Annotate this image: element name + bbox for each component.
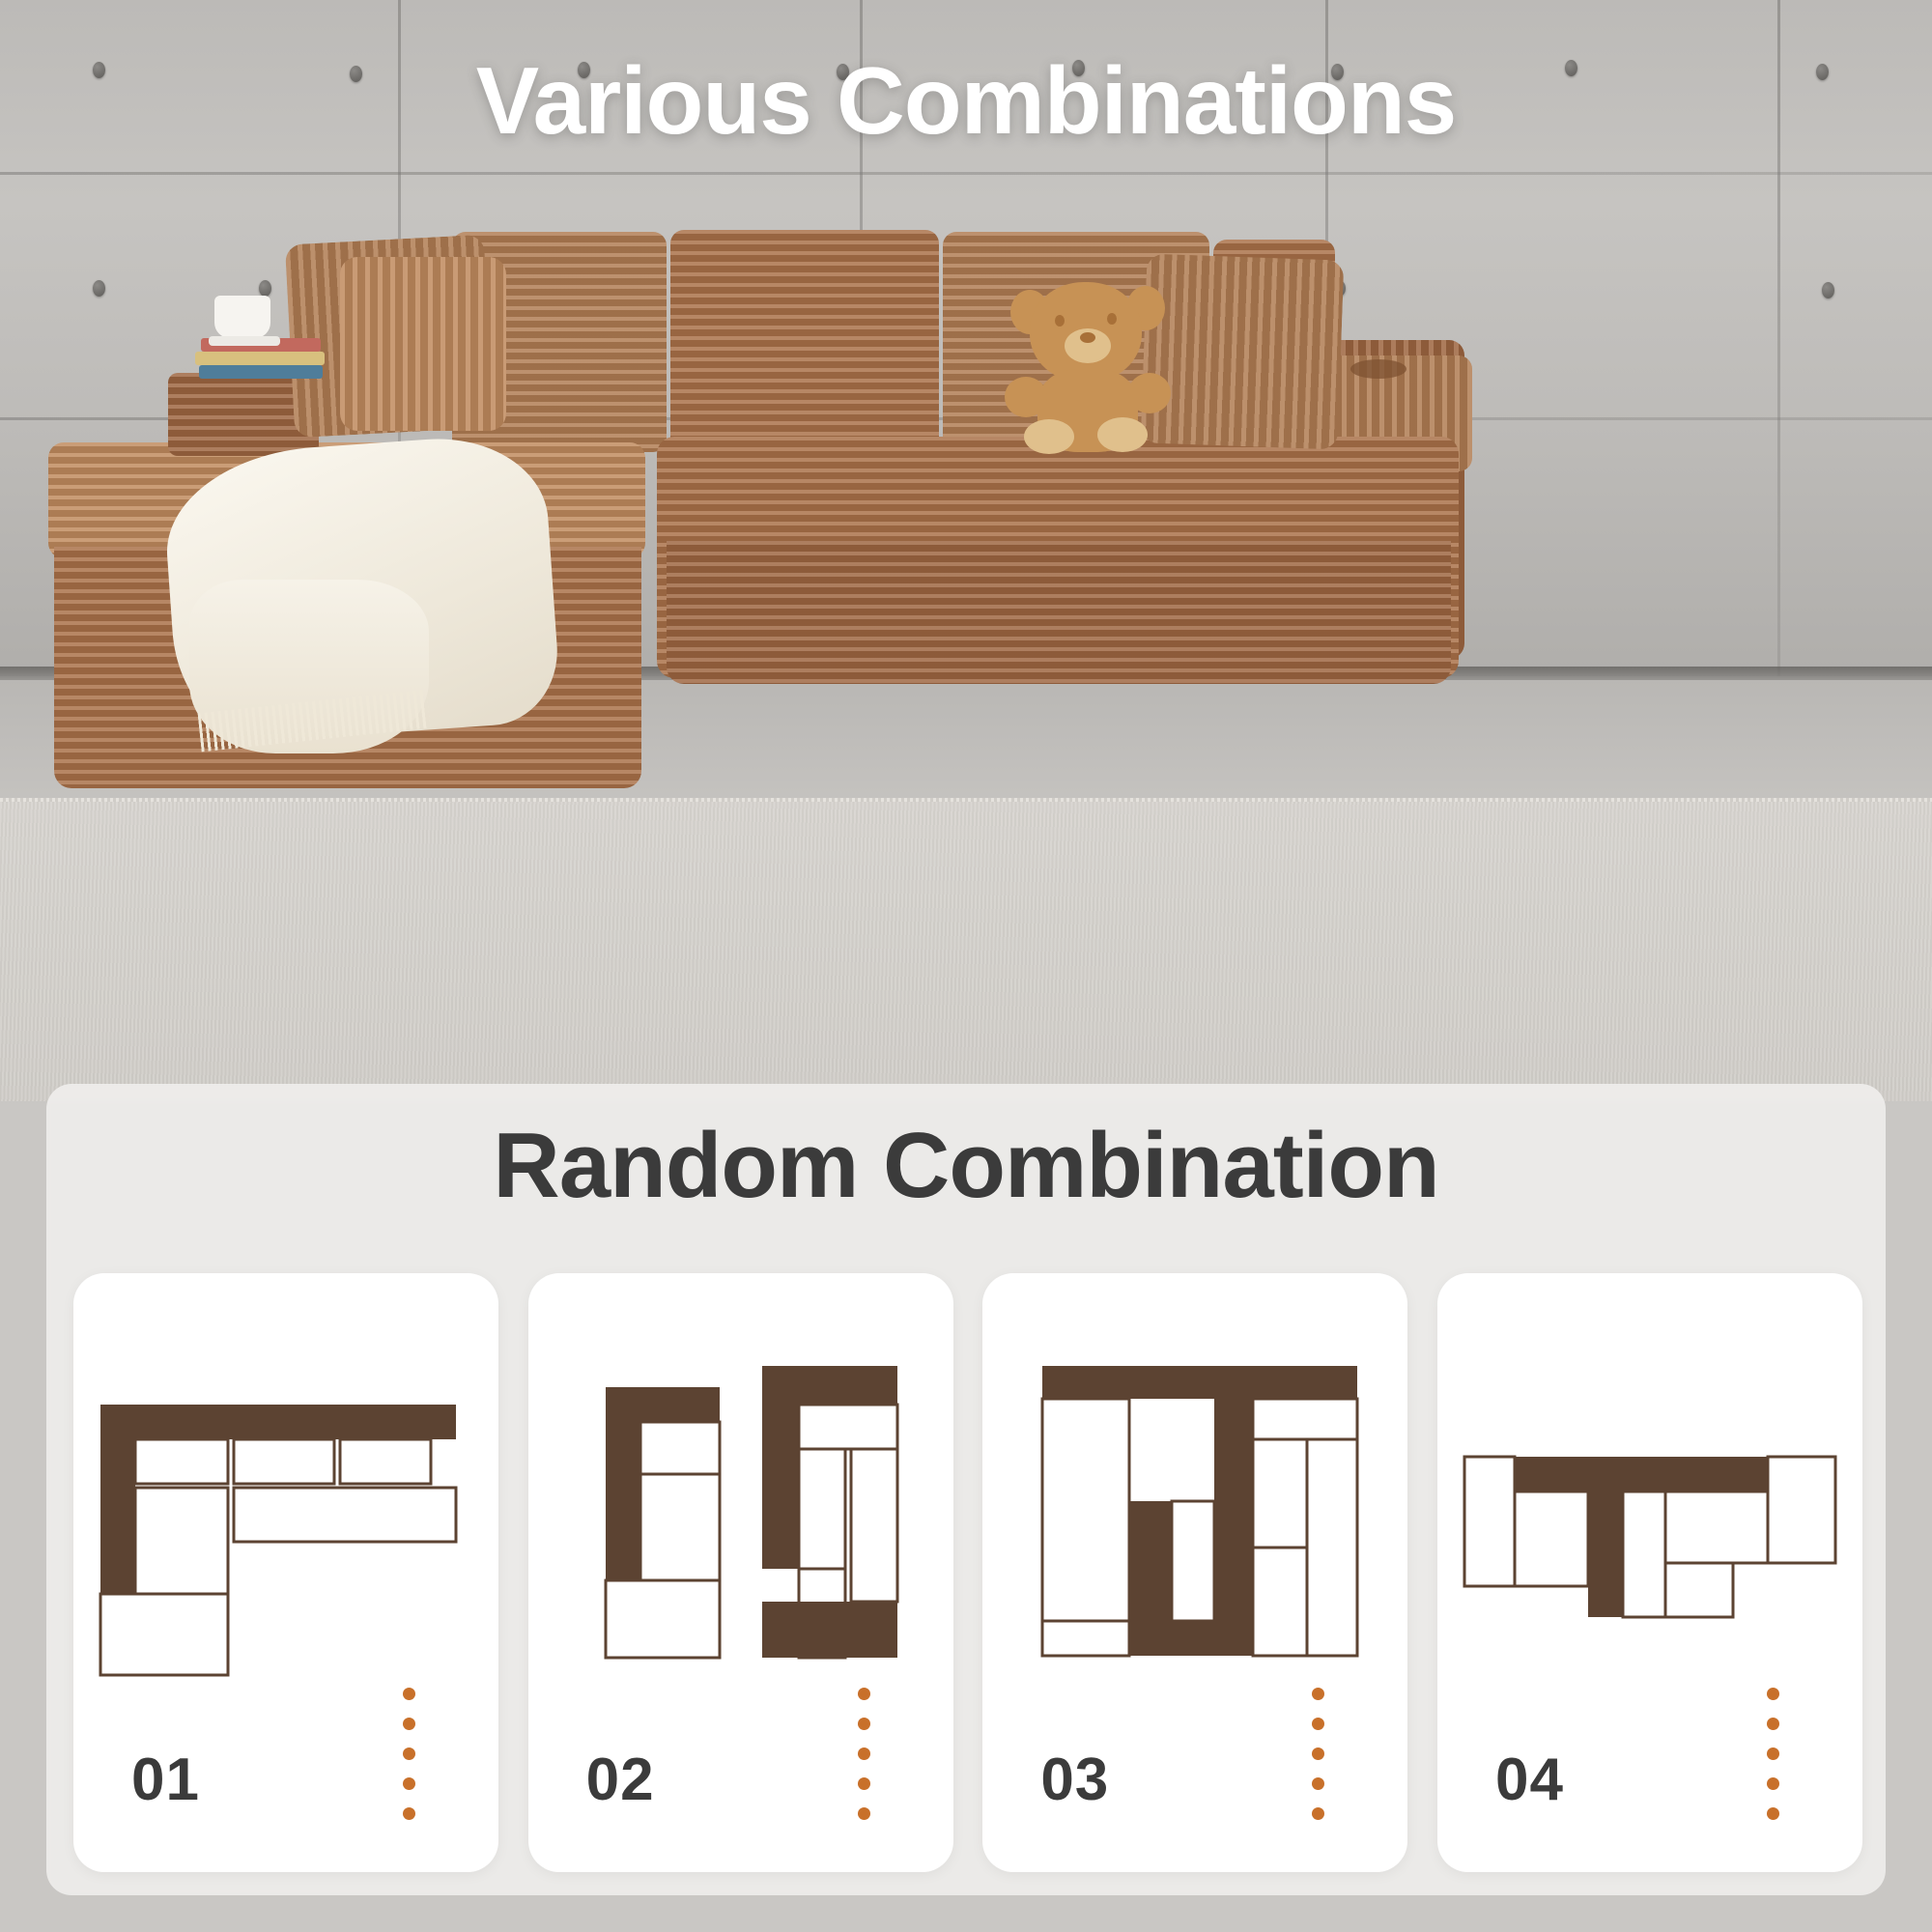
- section-title: Random Combination: [0, 1113, 1932, 1219]
- dot-icon: [1767, 1718, 1779, 1730]
- combination-cards: 01: [73, 1273, 1862, 1872]
- dot-icon: [858, 1747, 870, 1760]
- layout-diagram-03: [982, 1312, 1407, 1698]
- dot-icon: [403, 1718, 415, 1730]
- dot-icon: [858, 1688, 870, 1700]
- dot-column: [1312, 1688, 1324, 1820]
- dot-icon: [1767, 1747, 1779, 1760]
- dot-icon: [1767, 1807, 1779, 1820]
- book: [199, 365, 323, 379]
- throw-pillow: [340, 257, 506, 431]
- card-footer-04: 04: [1437, 1716, 1862, 1822]
- dot-icon: [1312, 1747, 1324, 1760]
- sectional-sofa: [0, 0, 1932, 1101]
- card-footer-01: 01: [73, 1716, 498, 1822]
- combination-card[interactable]: 03: [982, 1273, 1407, 1872]
- dot-icon: [403, 1807, 415, 1820]
- dot-icon: [1312, 1718, 1324, 1730]
- dot-icon: [1312, 1777, 1324, 1790]
- book: [195, 352, 325, 365]
- dot-icon: [403, 1747, 415, 1760]
- teddy-eye-left: [1055, 315, 1065, 327]
- dot-icon: [403, 1688, 415, 1700]
- dot-column: [403, 1688, 415, 1820]
- card-number: 01: [131, 1746, 200, 1814]
- dot-icon: [1312, 1807, 1324, 1820]
- dot-column: [858, 1688, 870, 1820]
- dot-icon: [1767, 1688, 1779, 1700]
- teddy-nose: [1080, 332, 1095, 343]
- card-number: 03: [1040, 1746, 1109, 1814]
- cupholder-icon: [1350, 359, 1406, 379]
- combination-card[interactable]: 01: [73, 1273, 498, 1872]
- teddy-bear: [1005, 269, 1188, 456]
- teddy-foot-left: [1024, 419, 1074, 454]
- hero-title: Various Combinations: [0, 46, 1932, 156]
- combination-card[interactable]: 04: [1437, 1273, 1862, 1872]
- card-number: 02: [586, 1746, 655, 1814]
- layout-diagram-04: [1437, 1312, 1862, 1698]
- card-number: 04: [1495, 1746, 1564, 1814]
- teddy-foot-right: [1097, 417, 1148, 452]
- dot-icon: [858, 1807, 870, 1820]
- layout-diagram-01: [73, 1312, 498, 1698]
- card-footer-03: 03: [982, 1716, 1407, 1822]
- dot-icon: [1767, 1777, 1779, 1790]
- hero-photo-scene: Various Combinations: [0, 0, 1932, 1101]
- dot-column: [1767, 1688, 1779, 1820]
- teddy-eye-right: [1107, 313, 1117, 325]
- saucer: [209, 336, 280, 346]
- dot-icon: [1312, 1688, 1324, 1700]
- teddy-arm-left: [1005, 377, 1047, 417]
- card-footer-02: 02: [528, 1716, 953, 1822]
- dot-icon: [858, 1777, 870, 1790]
- dot-icon: [858, 1718, 870, 1730]
- teddy-arm-right: [1128, 373, 1171, 413]
- coffee-cup: [214, 296, 270, 338]
- dot-icon: [403, 1777, 415, 1790]
- layout-diagram-02: [528, 1312, 953, 1698]
- combination-card[interactable]: 02: [528, 1273, 953, 1872]
- sofa-main-base: [667, 541, 1451, 684]
- sofa-back-cushion: [670, 230, 939, 454]
